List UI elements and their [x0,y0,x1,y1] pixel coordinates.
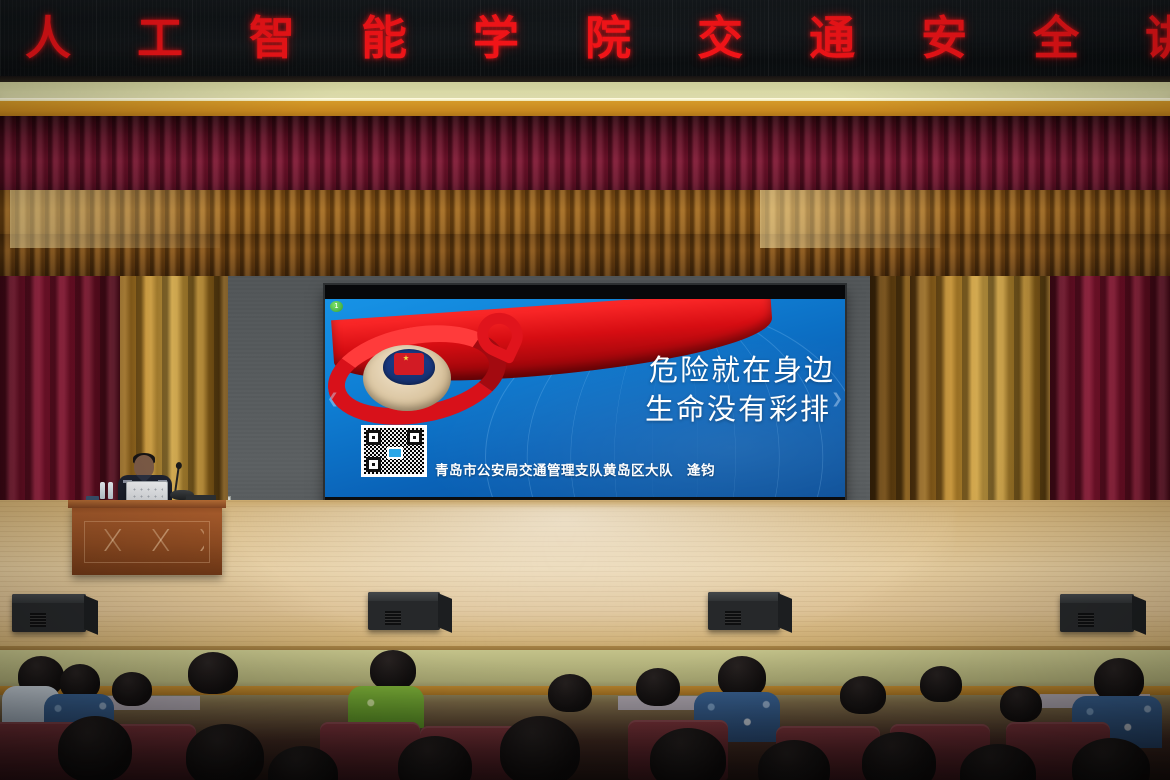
led-banner-text: 人 工 智 能 学 院 交 通 安 全 讲 座 [0,8,1170,68]
led-video-wall: 危险就在身边 生命没有彩排 青岛市公安局交通管理支队黄岛区大队 逄钧 1 ❮ ❯ [325,285,845,517]
audience-head [112,672,152,706]
badge-emblem-red [394,353,424,375]
stage-monitor-1 [12,594,86,632]
chevron-right-icon: ❯ [831,391,843,407]
chevron-left-icon: ❮ [327,391,339,407]
valance-highlight-left [10,190,220,248]
slide-title-line-2: 生命没有彩排 [645,390,835,429]
water-bottle-1 [100,482,105,499]
audience-head [548,674,592,712]
desk-top [68,500,226,508]
audience-head [840,676,886,714]
slide-title-line-1: 危险就在身边 [645,351,835,390]
qr-eye-tr [407,430,422,445]
qr-eye-bl [366,457,381,472]
audience-head [1000,686,1042,722]
qr-eye-tl [366,430,381,445]
led-banner: 人 工 智 能 学 院 交 通 安 全 讲 座 [0,0,1170,82]
audience-head [186,724,264,780]
stage-monitor-3 [708,592,780,630]
screen-bezel-top [325,285,845,299]
slide-number-badge: 1 [330,301,343,312]
auditorium-photo: 人 工 智 能 学 院 交 通 安 全 讲 座 [0,0,1170,780]
slide-title: 危险就在身边 生命没有彩排 [645,351,835,429]
qr-center-logo [387,447,403,459]
qr-code [361,425,427,477]
red-valance [0,116,1170,198]
audience-head [500,716,580,780]
desk-diamond-trim [90,529,204,551]
audience-head [58,716,132,780]
slide-subtitle: 青岛市公安局交通管理支队黄岛区大队 逄钧 [435,459,715,479]
presentation-slide: 危险就在身边 生命没有彩排 青岛市公安局交通管理支队黄岛区大队 逄钧 1 ❮ ❯ [325,299,845,497]
audience-head [188,652,238,694]
audience-head [636,668,680,706]
police-emblem-graphic [337,305,497,425]
water-bottle-2 [108,482,113,499]
stage-floor-reflection [175,505,955,647]
presenter-desk [72,505,222,575]
audience-area [0,650,1170,780]
valance-highlight-right [760,190,940,248]
stage-monitor-4 [1060,594,1134,632]
stage-monitor-2 [368,592,440,630]
audience-head [920,666,962,702]
audience-head [370,650,416,690]
